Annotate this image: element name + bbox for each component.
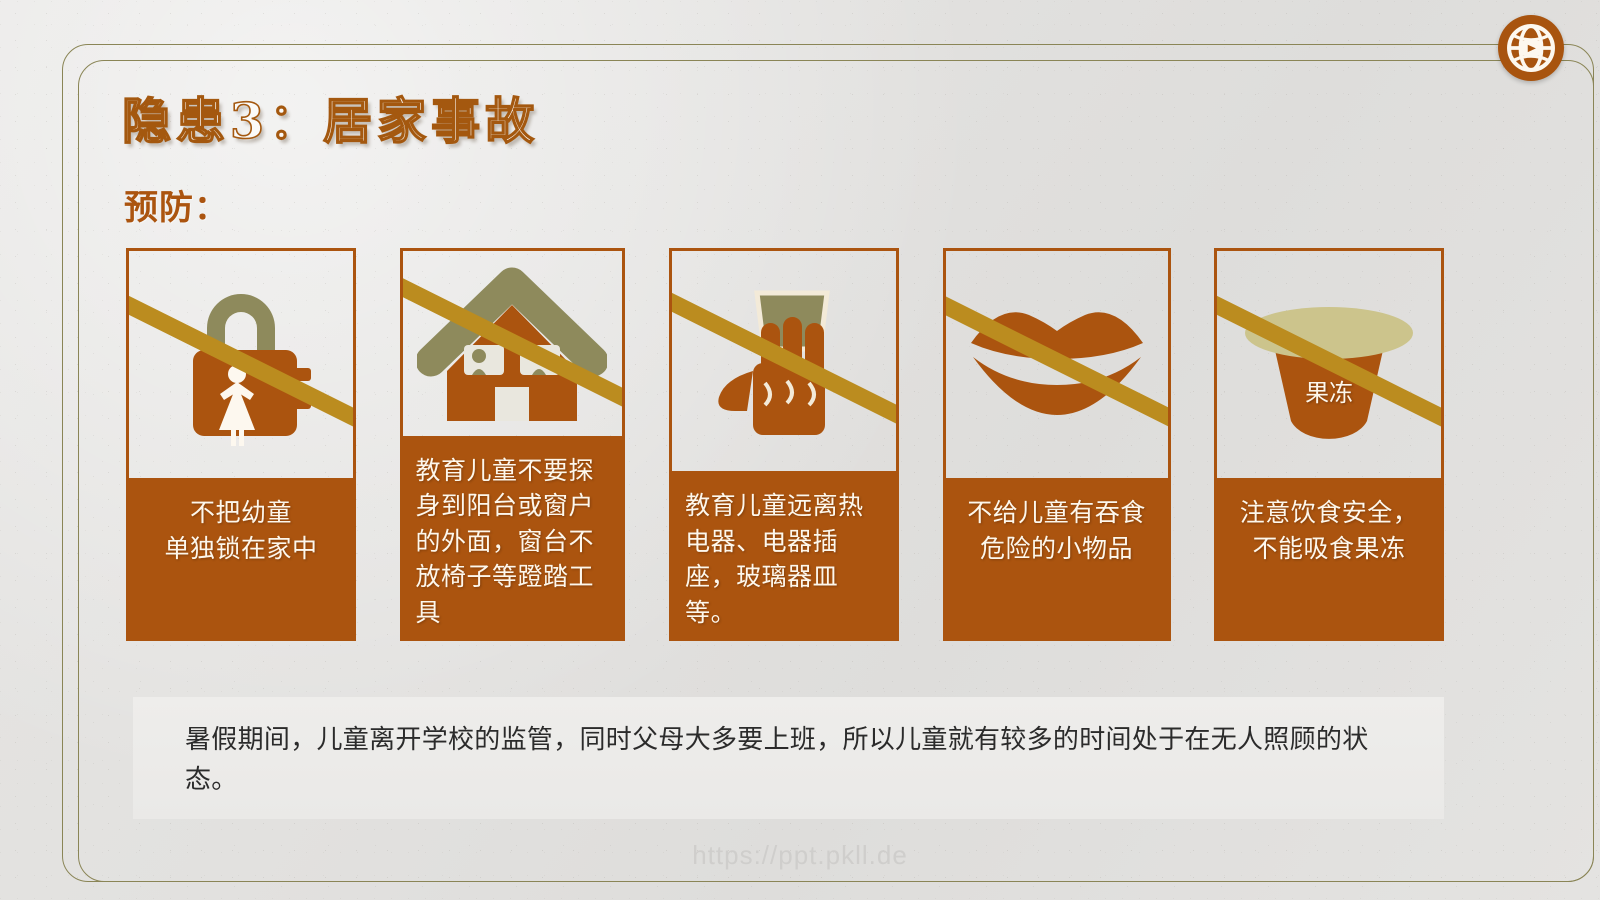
list-item-label: 不把幼童单独锁在家中 [126,478,356,641]
card-image-hand-cup [669,248,899,471]
card-image-mouth [943,248,1171,478]
summary-note-text: 暑假期间，儿童离开学校的监管，同时父母大多要上班，所以儿童就有较多的时间处于在无… [185,719,1410,800]
list-item-label: 教育儿童不要探身到阳台或窗户的外面，窗台不放椅子等蹬踏工具 [400,436,626,642]
list-item[interactable]: 教育儿童远离热电器、电器插座，玻璃器皿等。 [669,248,899,641]
card-image-padlock [126,248,356,478]
list-item[interactable]: 教育儿童不要探身到阳台或窗户的外面，窗台不放椅子等蹬踏工具 [400,248,626,641]
list-item[interactable]: 果冻 注意饮食安全，不能吸食果冻 [1214,248,1444,641]
list-item-label: 不给儿童有吞食危险的小物品 [943,478,1171,641]
watermark-url: https://ppt.pkll.de [0,840,1600,871]
list-item[interactable]: 不给儿童有吞食危险的小物品 [943,248,1171,641]
summary-note-panel: 暑假期间，儿童离开学校的监管，同时父母大多要上班，所以儿童就有较多的时间处于在无… [133,697,1444,819]
card-image-jelly: 果冻 [1214,248,1444,478]
card-gap [625,248,669,641]
list-item-label: 教育儿童远离热电器、电器插座，玻璃器皿等。 [669,471,899,641]
card-gap [1171,248,1215,641]
card-gap [899,248,943,641]
card-image-house [400,248,626,436]
section-label-prevention: 预防： [124,180,229,229]
list-item-label: 注意饮食安全，不能吸食果冻 [1214,478,1444,641]
slide-canvas: 隐患3：居家事故 预防： [0,0,1600,900]
page-title: 隐患3：居家事故 [122,82,539,153]
card-gap [356,248,400,641]
list-item[interactable]: 不把幼童单独锁在家中 [126,248,356,641]
globe-play-icon [1498,15,1564,81]
prevention-card-list: 不把幼童单独锁在家中 [126,248,1444,641]
